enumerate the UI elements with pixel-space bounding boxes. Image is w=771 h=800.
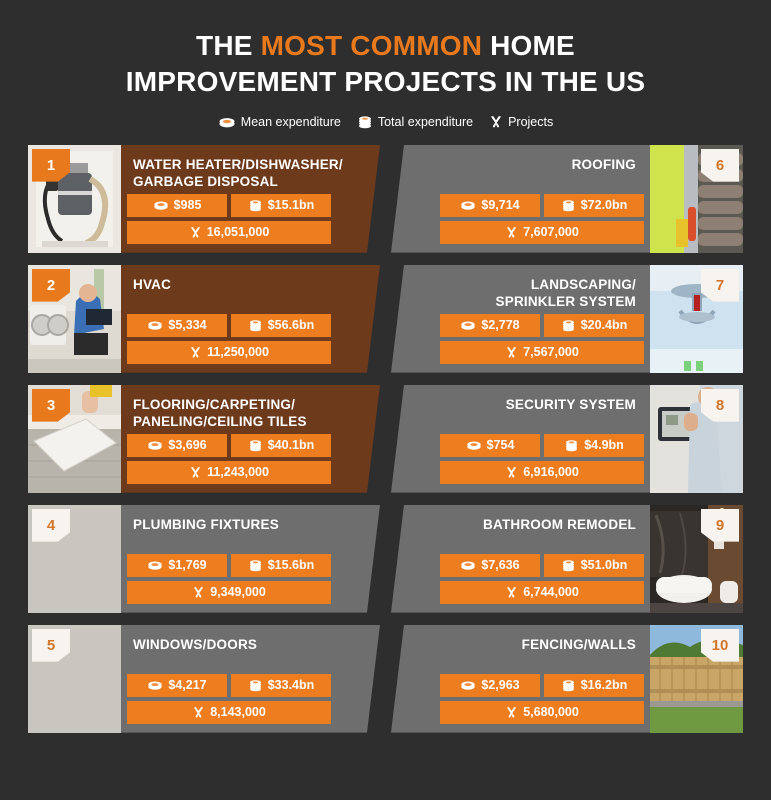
project-card-bathroom-remodel[interactable]: 9BATHROOM REMODEL $7,636 $51.0bn 6,744,0… [391, 505, 743, 613]
mean-expenditure-value: $2,963 [481, 678, 519, 692]
crossed-tools-icon [189, 466, 202, 479]
ranking-row: 2HVAC $5,334 $56.6bn 11,250,000 7LANDS [28, 265, 743, 373]
crossed-tools-icon [505, 706, 518, 719]
rank-badge: 4 [32, 509, 70, 542]
total-expenditure-pill: $15.6bn [231, 554, 331, 577]
single-coin-icon [147, 679, 163, 691]
single-coin-icon [460, 319, 476, 331]
project-card-fencing-walls[interactable]: 10FENCING/WALLS $2,963 $16.2bn 5,680,000 [391, 625, 743, 733]
stat-group: $2,778 $20.4bn 7,567,000 [440, 314, 644, 364]
project-card-security-system[interactable]: 8SECURITY SYSTEM $754 $4.9bn 6,916,000 [391, 385, 743, 493]
mean-expenditure-value: $5,334 [168, 318, 206, 332]
rank-badge: 1 [32, 149, 70, 182]
total-expenditure-pill: $72.0bn [544, 194, 644, 217]
stat-group: $5,334 $56.6bn 11,250,000 [127, 314, 331, 364]
total-expenditure-value: $51.0bn [581, 558, 628, 572]
coin-stack-icon [561, 199, 576, 212]
title-line-2: IMPROVEMENT PROJECTS IN THE US [126, 66, 645, 97]
total-expenditure-pill: $56.6bn [231, 314, 331, 337]
legend-item-1: Total expenditure [357, 115, 473, 129]
stat-group: $985 $15.1bn 16,051,000 [127, 194, 331, 244]
projects-value: 11,243,000 [207, 465, 269, 479]
ranking-row: 4PLUMBING FIXTURES $1,769 $15.6bn 9,349,… [28, 505, 743, 613]
coin-stack-icon [248, 199, 263, 212]
projects-pill: 11,250,000 [127, 341, 331, 364]
card-content: HVAC $5,334 $56.6bn 11,250,000 [127, 265, 358, 373]
projects-pill: 7,567,000 [440, 341, 644, 364]
total-expenditure-pill: $4.9bn [544, 434, 644, 457]
projects-value: 6,916,000 [523, 465, 579, 479]
stat-group: $4,217 $33.4bn 8,143,000 [127, 674, 331, 724]
legend-item-label: Total expenditure [378, 115, 473, 129]
rank-badge: 5 [32, 629, 70, 662]
card-content: LANDSCAPING/ SPRINKLER SYSTEM $2,778 $20… [415, 265, 644, 373]
stat-row-expenditures: $2,963 $16.2bn [440, 674, 644, 697]
project-card-windows-doors[interactable]: 5WINDOWS/DOORS $4,217 $33.4bn 8,143,000 [28, 625, 380, 733]
mean-expenditure-pill: $2,963 [440, 674, 540, 697]
total-expenditure-value: $40.1bn [268, 438, 315, 452]
crossed-tools-icon [192, 706, 205, 719]
stat-row-expenditures: $1,769 $15.6bn [127, 554, 331, 577]
mean-expenditure-value: $7,636 [481, 558, 519, 572]
projects-value: 9,349,000 [210, 585, 266, 599]
single-coin-icon [147, 559, 163, 571]
card-content: PLUMBING FIXTURES $1,769 $15.6bn 9,349,0… [127, 505, 358, 613]
total-expenditure-pill: $40.1bn [231, 434, 331, 457]
project-card-flooring-carpeting-paneling-ceiling-tiles[interactable]: 3FLOORING/CARPETING/ PANELING/CEILING TI… [28, 385, 380, 493]
projects-pill: 16,051,000 [127, 221, 331, 244]
total-expenditure-value: $4.9bn [584, 438, 624, 452]
crossed-tools-icon [489, 115, 503, 129]
project-name: FLOORING/CARPETING/ PANELING/CEILING TIL… [127, 396, 307, 432]
projects-value: 7,607,000 [523, 225, 579, 239]
total-expenditure-pill: $51.0bn [544, 554, 644, 577]
mean-expenditure-pill: $4,217 [127, 674, 227, 697]
rank-badge: 9 [701, 509, 739, 542]
total-expenditure-value: $16.2bn [581, 678, 628, 692]
total-expenditure-value: $33.4bn [268, 678, 315, 692]
projects-value: 8,143,000 [210, 705, 266, 719]
stat-group: $2,963 $16.2bn 5,680,000 [440, 674, 644, 724]
mean-expenditure-value: $4,217 [168, 678, 206, 692]
mean-expenditure-value: $9,714 [481, 198, 519, 212]
mean-expenditure-pill: $754 [440, 434, 540, 457]
total-expenditure-pill: $20.4bn [544, 314, 644, 337]
project-name: FENCING/WALLS [522, 636, 644, 654]
total-expenditure-pill: $15.1bn [231, 194, 331, 217]
crossed-tools-icon [505, 466, 518, 479]
project-name: HVAC [127, 276, 171, 294]
mean-expenditure-pill: $1,769 [127, 554, 227, 577]
mean-expenditure-pill: $5,334 [127, 314, 227, 337]
mean-expenditure-pill: $3,696 [127, 434, 227, 457]
crossed-tools-icon [505, 226, 518, 239]
single-coin-icon [147, 439, 163, 451]
coin-stack-icon [248, 439, 263, 452]
crossed-tools-icon [192, 586, 205, 599]
crossed-tools-icon [505, 586, 518, 599]
total-expenditure-pill: $16.2bn [544, 674, 644, 697]
mean-expenditure-value: $2,778 [481, 318, 519, 332]
stat-row-expenditures: $985 $15.1bn [127, 194, 331, 217]
coin-stack-icon [561, 319, 576, 332]
mean-expenditure-pill: $7,636 [440, 554, 540, 577]
title-highlight: MOST COMMON [261, 30, 483, 61]
total-expenditure-value: $20.4bn [581, 318, 628, 332]
mean-expenditure-pill: $9,714 [440, 194, 540, 217]
title-part-1: THE [196, 30, 261, 61]
legend-item-label: Projects [508, 115, 553, 129]
project-name: LANDSCAPING/ SPRINKLER SYSTEM [496, 276, 644, 312]
total-expenditure-pill: $33.4bn [231, 674, 331, 697]
rank-badge: 10 [701, 629, 739, 662]
project-name: PLUMBING FIXTURES [127, 516, 279, 534]
project-card-water-heater-dishwasher-garbage-disposal[interactable]: 1WATER HEATER/DISHWASHER/ GARBAGE DISPOS… [28, 145, 380, 253]
total-expenditure-value: $15.1bn [268, 198, 315, 212]
page-title: THE MOST COMMON HOME IMPROVEMENT PROJECT… [40, 28, 731, 100]
projects-value: 5,680,000 [523, 705, 579, 719]
projects-value: 11,250,000 [207, 345, 269, 359]
card-content: WINDOWS/DOORS $4,217 $33.4bn 8,143,000 [127, 625, 358, 733]
coin-stack-icon [248, 559, 263, 572]
single-coin-icon [153, 199, 169, 211]
projects-pill: 6,744,000 [440, 581, 644, 604]
rank-badge: 6 [701, 149, 739, 182]
mean-expenditure-pill: $2,778 [440, 314, 540, 337]
stat-row-expenditures: $7,636 $51.0bn [440, 554, 644, 577]
infographic-header: THE MOST COMMON HOME IMPROVEMENT PROJECT… [0, 0, 771, 129]
projects-pill: 6,916,000 [440, 461, 644, 484]
mean-expenditure-value: $3,696 [168, 438, 206, 452]
total-expenditure-value: $15.6bn [268, 558, 315, 572]
stat-row-expenditures: $3,696 $40.1bn [127, 434, 331, 457]
rank-badge: 3 [32, 389, 70, 422]
single-coin-icon [460, 199, 476, 211]
projects-value: 6,744,000 [523, 585, 579, 599]
stat-row-expenditures: $4,217 $33.4bn [127, 674, 331, 697]
stat-group: $754 $4.9bn 6,916,000 [440, 434, 644, 484]
coin-stack-icon [564, 439, 579, 452]
coin-stack-icon [561, 559, 576, 572]
coin-stack-icon [357, 115, 373, 129]
mean-expenditure-value: $1,769 [168, 558, 206, 572]
card-content: FENCING/WALLS $2,963 $16.2bn 5,680,000 [415, 625, 644, 733]
project-name: ROOFING [572, 156, 644, 174]
mean-expenditure-value: $985 [174, 198, 202, 212]
project-card-plumbing-fixtures[interactable]: 4PLUMBING FIXTURES $1,769 $15.6bn 9,349,… [28, 505, 380, 613]
card-content: ROOFING $9,714 $72.0bn 7,607,000 [415, 145, 644, 253]
ranking-row: 5WINDOWS/DOORS $4,217 $33.4bn 8,143,000 [28, 625, 743, 733]
legend: Mean expenditure Total expenditure Proje… [40, 115, 731, 129]
stat-row-expenditures: $2,778 $20.4bn [440, 314, 644, 337]
projects-value: 16,051,000 [207, 225, 270, 239]
project-card-roofing[interactable]: 6ROOFING $9,714 $72.0bn 7,607,000 [391, 145, 743, 253]
total-expenditure-value: $56.6bn [268, 318, 315, 332]
stat-row-expenditures: $9,714 $72.0bn [440, 194, 644, 217]
projects-pill: 8,143,000 [127, 701, 331, 724]
single-coin-icon [460, 679, 476, 691]
crossed-tools-icon [189, 346, 202, 359]
single-coin-icon [466, 439, 482, 451]
project-name: WINDOWS/DOORS [127, 636, 257, 654]
card-content: FLOORING/CARPETING/ PANELING/CEILING TIL… [127, 385, 358, 493]
ranking-row: 1WATER HEATER/DISHWASHER/ GARBAGE DISPOS… [28, 145, 743, 253]
rank-badge: 2 [32, 269, 70, 302]
mean-expenditure-value: $754 [487, 438, 515, 452]
projects-pill: 9,349,000 [127, 581, 331, 604]
project-name: BATHROOM REMODEL [483, 516, 644, 534]
card-content: WATER HEATER/DISHWASHER/ GARBAGE DISPOSA… [127, 145, 358, 253]
card-content: BATHROOM REMODEL $7,636 $51.0bn 6,744,00… [415, 505, 644, 613]
stat-group: $3,696 $40.1bn 11,243,000 [127, 434, 331, 484]
card-content: SECURITY SYSTEM $754 $4.9bn 6,916,000 [415, 385, 644, 493]
ranking-row: 3FLOORING/CARPETING/ PANELING/CEILING TI… [28, 385, 743, 493]
stat-row-expenditures: $754 $4.9bn [440, 434, 644, 457]
coin-stack-icon [561, 679, 576, 692]
projects-pill: 5,680,000 [440, 701, 644, 724]
project-name: WATER HEATER/DISHWASHER/ GARBAGE DISPOSA… [127, 156, 343, 192]
project-card-landscaping-sprinkler-system[interactable]: 7LANDSCAPING/ SPRINKLER SYSTEM $2,778 $2… [391, 265, 743, 373]
coin-stack-icon [248, 679, 263, 692]
projects-pill: 7,607,000 [440, 221, 644, 244]
title-part-2: HOME [482, 30, 575, 61]
project-card-hvac[interactable]: 2HVAC $5,334 $56.6bn 11,250,000 [28, 265, 380, 373]
single-coin-icon [218, 115, 236, 129]
stat-group: $7,636 $51.0bn 6,744,000 [440, 554, 644, 604]
rank-badge: 8 [701, 389, 739, 422]
rank-badge: 7 [701, 269, 739, 302]
single-coin-icon [147, 319, 163, 331]
mean-expenditure-pill: $985 [127, 194, 227, 217]
legend-item-0: Mean expenditure [218, 115, 341, 129]
crossed-tools-icon [505, 346, 518, 359]
crossed-tools-icon [189, 226, 202, 239]
stat-group: $1,769 $15.6bn 9,349,000 [127, 554, 331, 604]
projects-pill: 11,243,000 [127, 461, 331, 484]
coin-stack-icon [248, 319, 263, 332]
total-expenditure-value: $72.0bn [581, 198, 628, 212]
stat-group: $9,714 $72.0bn 7,607,000 [440, 194, 644, 244]
legend-item-label: Mean expenditure [241, 115, 341, 129]
single-coin-icon [460, 559, 476, 571]
legend-item-2: Projects [489, 115, 553, 129]
projects-value: 7,567,000 [523, 345, 579, 359]
rankings-grid: 1WATER HEATER/DISHWASHER/ GARBAGE DISPOS… [0, 145, 771, 733]
project-name: SECURITY SYSTEM [506, 396, 644, 414]
stat-row-expenditures: $5,334 $56.6bn [127, 314, 331, 337]
